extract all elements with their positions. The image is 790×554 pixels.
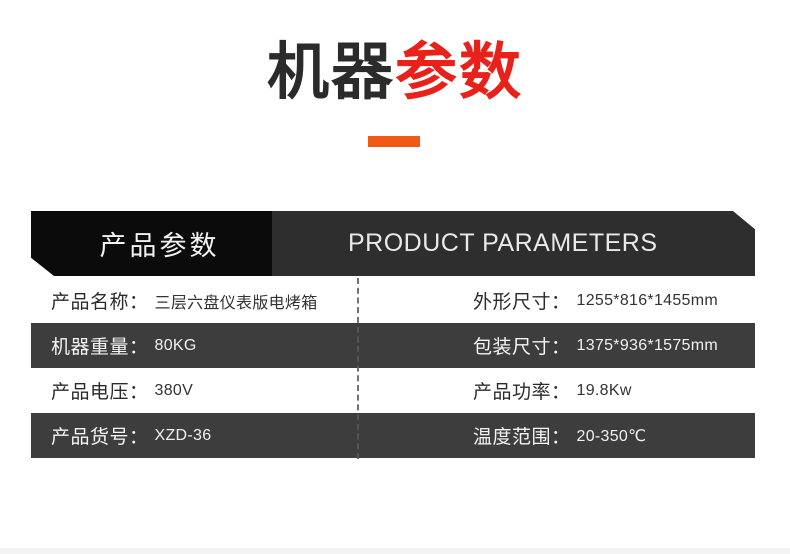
spec-label: 温度范围： — [473, 422, 571, 449]
section-header-cn-label: 产品参数 — [84, 224, 220, 263]
section-header-right-panel: PRODUCT PARAMETERS — [272, 211, 755, 276]
spec-cell-right: 包装尺寸： 1375*936*1575mm — [393, 323, 755, 368]
spec-cell-right: 产品功率： 19.8Kw — [393, 368, 755, 413]
section-header-en-label: PRODUCT PARAMETERS — [272, 229, 658, 258]
table-row: 产品货号： XZD-36 温度范围： 20-350℃ — [31, 413, 755, 458]
spec-value: 1375*936*1575mm — [577, 337, 719, 355]
page-title-dark-part: 机器 — [267, 38, 395, 107]
spec-value: 20-350℃ — [577, 426, 647, 446]
spec-cell-left: 产品货号： XZD-36 — [31, 413, 393, 458]
spec-cell-right: 温度范围： 20-350℃ — [393, 413, 755, 458]
spec-cell-right: 外形尺寸： 1255*816*1455mm — [393, 278, 755, 323]
spec-label: 产品货号： — [51, 422, 149, 449]
page-title: 机器参数 — [0, 42, 790, 104]
table-row: 产品电压： 380V 产品功率： 19.8Kw — [31, 368, 755, 413]
spec-label: 产品功率： — [473, 377, 571, 404]
spec-table: 产品名称： 三层六盘仪表版电烤箱 外形尺寸： 1255*816*1455mm 机… — [31, 278, 755, 459]
page-title-red-part: 参数 — [395, 38, 523, 107]
spec-value: 三层六盘仪表版电烤箱 — [155, 289, 318, 313]
spec-value: 80KG — [155, 337, 197, 355]
title-underline-bar — [368, 136, 420, 147]
spec-value: 1255*816*1455mm — [577, 292, 719, 310]
table-row: 机器重量： 80KG 包装尺寸： 1375*936*1575mm — [31, 323, 755, 368]
spec-value: XZD-36 — [155, 427, 212, 445]
spec-value: 380V — [155, 382, 194, 400]
section-header-bar: 产品参数 PRODUCT PARAMETERS — [31, 211, 755, 276]
spec-label: 产品电压： — [51, 377, 149, 404]
spec-label: 机器重量： — [51, 332, 149, 359]
spec-label: 包装尺寸： — [473, 332, 571, 359]
spec-label: 产品名称： — [51, 287, 149, 314]
table-row: 产品名称： 三层六盘仪表版电烤箱 外形尺寸： 1255*816*1455mm — [31, 278, 755, 323]
spec-cell-left: 产品名称： 三层六盘仪表版电烤箱 — [31, 278, 393, 323]
bottom-band — [0, 548, 790, 554]
section-header-left-panel: 产品参数 — [31, 211, 272, 276]
product-parameters-page: 机器参数 产品参数 PRODUCT PARAMETERS 产品名称： 三层六盘仪… — [0, 0, 790, 554]
spec-cell-left: 机器重量： 80KG — [31, 323, 393, 368]
spec-cell-left: 产品电压： 380V — [31, 368, 393, 413]
spec-label: 外形尺寸： — [473, 287, 571, 314]
spec-value: 19.8Kw — [577, 382, 632, 400]
